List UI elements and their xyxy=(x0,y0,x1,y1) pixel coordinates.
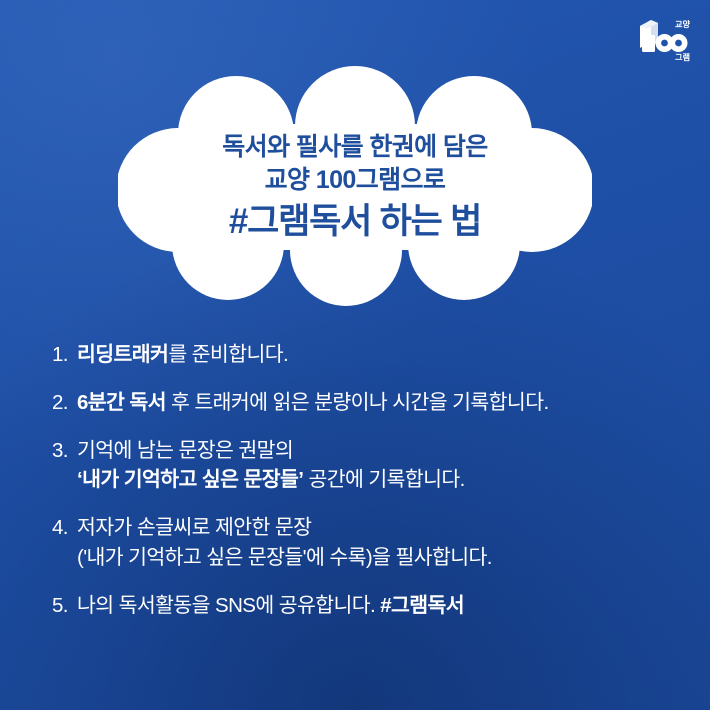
headline-line-1: 독서와 필사를 한권에 담은 xyxy=(222,131,487,165)
step-text-line: ‘내가 기억하고 싶은 문장들’ 공간에 기록합니다. xyxy=(77,465,672,494)
step-number: 5. xyxy=(52,591,77,620)
step-text-segment: 공간에 기록합니다. xyxy=(303,468,464,491)
step-text-line: 저자가 손글씨로 제안한 문장 xyxy=(77,513,672,542)
step-number: 2. xyxy=(52,388,77,417)
step-text-emphasis: 리딩트래커 xyxy=(77,343,168,366)
step-item: 5.나의 독서활동을 SNS에 공유합니다. #그램독서 xyxy=(52,591,672,620)
step-text-segment: 기억에 남는 문장은 권말의 xyxy=(77,439,293,462)
step-text-segment: ('내가 기억하고 싶은 문장들'에 수록)을 필사합니다. xyxy=(77,546,492,569)
step-item: 2.6분간 독서 후 트래커에 읽은 분량이나 시간을 기록합니다. xyxy=(52,388,672,417)
promo-card: 교양 그램 독서와 필사를 한권에 xyxy=(0,0,710,710)
step-text-emphasis: 6분간 독서 xyxy=(77,391,166,414)
step-text: 리딩트래커를 준비합니다. xyxy=(77,340,672,369)
headline-line-2: 교양 100그램으로 xyxy=(265,164,446,198)
cloud-text-block: 독서와 필사를 한권에 담은 교양 100그램으로 #그램독서 하는 법 xyxy=(118,62,592,312)
book-icon xyxy=(640,20,658,52)
step-number: 1. xyxy=(52,340,77,369)
step-text: 나의 독서활동을 SNS에 공유합니다. #그램독서 xyxy=(77,591,672,620)
step-text-line: ('내가 기억하고 싶은 문장들'에 수록)을 필사합니다. xyxy=(77,543,672,572)
step-text: 기억에 남는 문장은 권말의‘내가 기억하고 싶은 문장들’ 공간에 기록합니다… xyxy=(77,436,672,494)
step-text: 저자가 손글씨로 제안한 문장('내가 기억하고 싶은 문장들'에 수록)을 필… xyxy=(77,513,672,571)
headline-main: #그램독서 하는 법 xyxy=(229,201,481,244)
step-text-line: 기억에 남는 문장은 권말의 xyxy=(77,436,672,465)
step-item: 3.기억에 남는 문장은 권말의‘내가 기억하고 싶은 문장들’ 공간에 기록합… xyxy=(52,436,672,494)
step-number: 4. xyxy=(52,513,77,542)
step-text: 6분간 독서 후 트래커에 읽은 분량이나 시간을 기록합니다. xyxy=(77,388,672,417)
gyoyang-100-gram-logo: 교양 그램 xyxy=(634,12,696,62)
step-text-line: 6분간 독서 후 트래커에 읽은 분량이나 시간을 기록합니다. xyxy=(77,388,672,417)
steps-list: 1.리딩트래커를 준비합니다.2.6분간 독서 후 트래커에 읽은 분량이나 시… xyxy=(52,340,672,620)
step-number: 3. xyxy=(52,436,77,465)
step-text-segment: 나의 독서활동을 SNS에 공유합니다. xyxy=(77,594,380,617)
step-text-emphasis: ‘내가 기억하고 싶은 문장들’ xyxy=(77,468,303,491)
step-text-emphasis: #그램독서 xyxy=(380,594,464,617)
logo-bottom-label: 그램 xyxy=(675,52,690,62)
cloud-headline-bubble: 독서와 필사를 한권에 담은 교양 100그램으로 #그램독서 하는 법 xyxy=(118,62,592,312)
step-text-segment: 를 준비합니다. xyxy=(168,343,288,366)
logo-top-label: 교양 xyxy=(675,19,691,29)
step-text-line: 리딩트래커를 준비합니다. xyxy=(77,340,672,369)
step-text-line: 나의 독서활동을 SNS에 공유합니다. #그램독서 xyxy=(77,591,672,620)
step-item: 1.리딩트래커를 준비합니다. xyxy=(52,340,672,369)
step-text-segment: 저자가 손글씨로 제안한 문장 xyxy=(77,516,311,539)
step-item: 4.저자가 손글씨로 제안한 문장('내가 기억하고 싶은 문장들'에 수록)을… xyxy=(52,513,672,571)
step-text-segment: 후 트래커에 읽은 분량이나 시간을 기록합니다. xyxy=(166,391,549,414)
